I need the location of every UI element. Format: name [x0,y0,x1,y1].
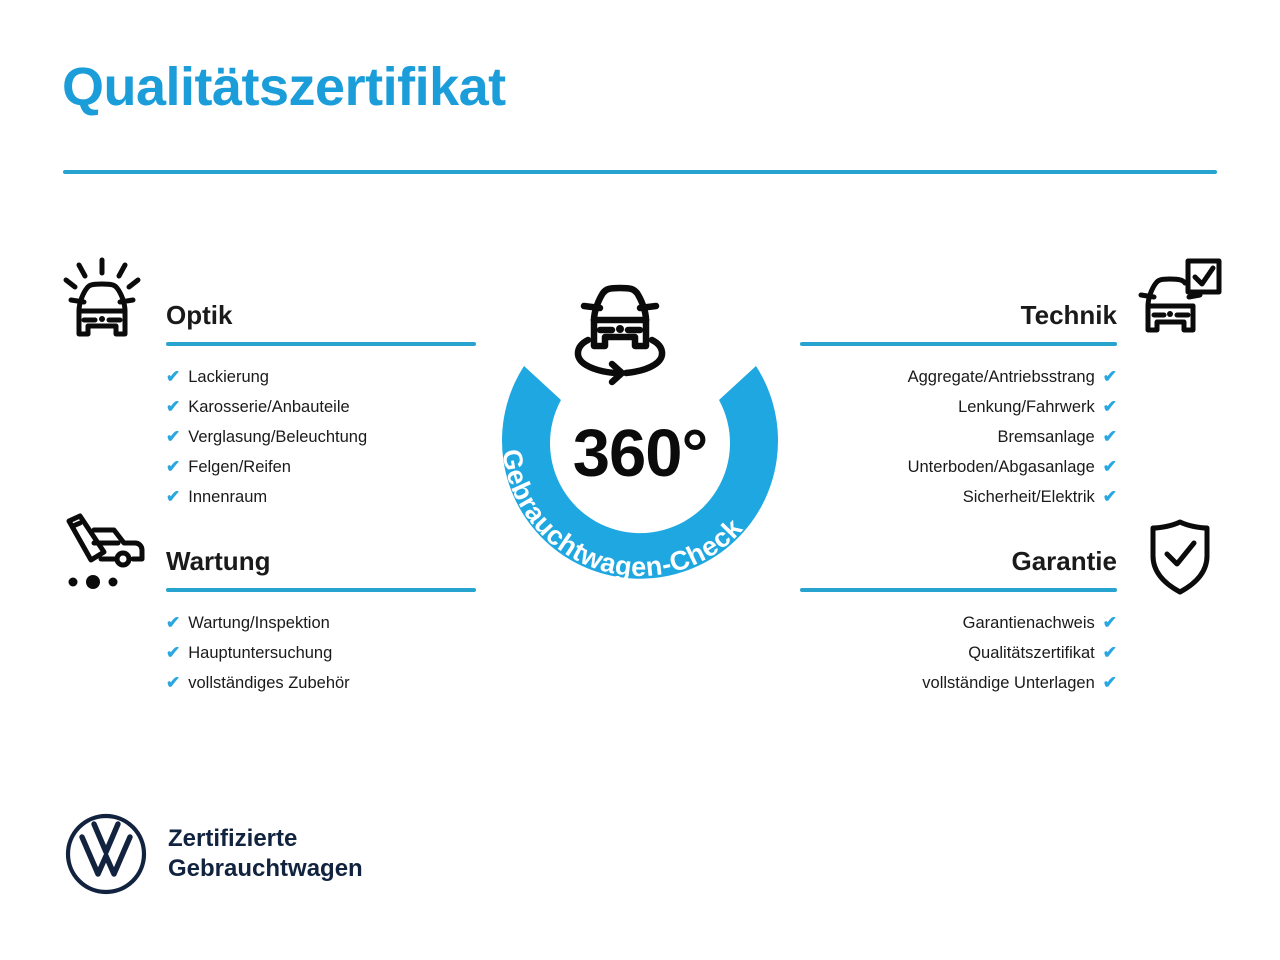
section-optik-divider [166,342,476,346]
check-list-item: Aggregate/Antriebsstrang✔ [800,362,1117,392]
check-list-item-label: Verglasung/Beleuchtung [188,422,367,452]
section-wartung: Wartung ✔Wartung/Inspektion✔Hauptuntersu… [166,544,476,698]
car-360-rotation-icon [578,288,662,382]
check-icon: ✔ [166,668,180,698]
section-technik-title: Technik [800,298,1117,332]
check-list-item: Lenkung/Fahrwerk✔ [800,392,1117,422]
section-technik: Technik Aggregate/Antriebsstrang✔Lenkung… [800,298,1117,512]
section-garantie-title: Garantie [800,544,1117,578]
check-list-item: ✔Hauptuntersuchung [166,638,476,668]
check-list-item-label: Lenkung/Fahrwerk [958,392,1095,422]
check-icon: ✔ [166,362,180,392]
check-icon: ✔ [1103,362,1117,392]
check-list-item-label: Bremsanlage [998,422,1095,452]
check-icon: ✔ [166,638,180,668]
footer-line-2: Gebrauchtwagen [168,854,363,884]
check-list-item-label: Aggregate/Antriebsstrang [908,362,1095,392]
check-list-item-label: vollständiges Zubehör [188,668,349,698]
section-technik-header: Technik [800,298,1117,346]
check-icon: ✔ [1103,452,1117,482]
section-wartung-header: Wartung [166,544,476,592]
footer-brand: Zertifizierte Gebrauchtwagen [64,812,363,896]
check-list-item-label: Karosserie/Anbauteile [188,392,349,422]
page-title: Qualitätszertifikat [62,58,506,117]
check-icon: ✔ [166,422,180,452]
check-list-item: ✔Karosserie/Anbauteile [166,392,476,422]
section-garantie-header: Garantie [800,544,1117,592]
check-list-item-label: Qualitätszertifikat [968,638,1095,668]
check-list-item: Garantienachweis✔ [800,608,1117,638]
check-icon: ✔ [1103,422,1117,452]
section-garantie-divider [800,588,1117,592]
section-wartung-title: Wartung [166,544,476,578]
section-optik: Optik ✔Lackierung✔Karosserie/Anbauteile✔… [166,298,476,512]
section-technik-divider [800,342,1117,346]
section-garantie: Garantie Garantienachweis✔Qualitätszerti… [800,544,1117,698]
volkswagen-logo [64,812,148,896]
check-list-item: ✔Felgen/Reifen [166,452,476,482]
gebrauchtwagen-check-badge: Gebrauchtwagen-Check 360° [452,248,828,648]
check-list-item-label: Wartung/Inspektion [188,608,330,638]
car-service-pencil-icon [60,512,148,592]
check-list-item-label: Sicherheit/Elektrik [963,482,1095,512]
check-list-item-label: Unterboden/Abgasanlage [908,452,1095,482]
check-icon: ✔ [1103,392,1117,422]
section-wartung-list: ✔Wartung/Inspektion✔Hauptuntersuchung✔vo… [166,608,476,698]
shield-check-icon [1148,518,1212,596]
check-list-item-label: Hauptuntersuchung [188,638,332,668]
section-optik-title: Optik [166,298,476,332]
check-list-item-label: Lackierung [188,362,269,392]
section-optik-list: ✔Lackierung✔Karosserie/Anbauteile✔Vergla… [166,362,476,512]
check-list-item: ✔Lackierung [166,362,476,392]
check-icon: ✔ [166,482,180,512]
check-list-item-label: vollständige Unterlagen [922,668,1094,698]
check-icon: ✔ [1103,668,1117,698]
check-list-item: ✔vollständiges Zubehör [166,668,476,698]
check-icon: ✔ [166,452,180,482]
check-list-item-label: Garantienachweis [963,608,1095,638]
title-divider [63,170,1217,174]
badge-degrees-label: 360° [573,416,708,491]
check-list-item-label: Felgen/Reifen [188,452,291,482]
check-list-item-label: Innenraum [188,482,267,512]
car-front-shine-icon [62,256,142,344]
check-list-item: Bremsanlage✔ [800,422,1117,452]
check-list-item: Qualitätszertifikat✔ [800,638,1117,668]
check-list-item: ✔Wartung/Inspektion [166,608,476,638]
check-list-item: ✔Innenraum [166,482,476,512]
quality-certificate-page: Qualitätszertifikat [0,0,1280,960]
check-list-item: ✔Verglasung/Beleuchtung [166,422,476,452]
section-optik-header: Optik [166,298,476,346]
car-front-checkbox-icon [1138,258,1222,338]
footer-line-1: Zertifizierte [168,824,363,854]
section-technik-list: Aggregate/Antriebsstrang✔Lenkung/Fahrwer… [800,362,1117,512]
check-icon: ✔ [166,392,180,422]
check-icon: ✔ [1103,608,1117,638]
check-icon: ✔ [166,608,180,638]
check-list-item: vollständige Unterlagen✔ [800,668,1117,698]
check-list-item: Sicherheit/Elektrik✔ [800,482,1117,512]
check-icon: ✔ [1103,638,1117,668]
check-icon: ✔ [1103,482,1117,512]
check-list-item: Unterboden/Abgasanlage✔ [800,452,1117,482]
section-garantie-list: Garantienachweis✔Qualitätszertifikat✔vol… [800,608,1117,698]
footer-text-block: Zertifizierte Gebrauchtwagen [168,824,363,884]
section-wartung-divider [166,588,476,592]
